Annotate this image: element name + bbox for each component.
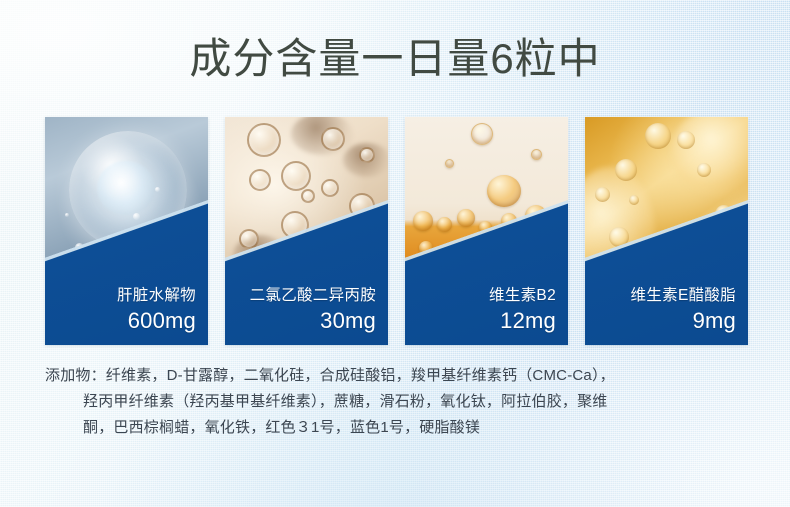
ingredient-name: 维生素E醋酸脂 — [631, 284, 736, 307]
ingredient-name: 二氯乙酸二异丙胺 — [250, 284, 376, 307]
additives-line-3: 酮，巴西棕榈蜡，氧化铁，红色３1号，蓝色1号，硬脂酸镁 — [45, 415, 751, 441]
ingredient-card-vitamin-e-acetate[interactable]: 维生素E醋酸脂 9mg — [585, 117, 748, 345]
product-ingredient-infographic: 成分含量一日量6粒中 肝脏水解物 600mg — [0, 0, 790, 507]
ingredient-name: 维生素B2 — [489, 284, 556, 307]
ingredient-card-liver-hydrolysate[interactable]: 肝脏水解物 600mg — [45, 117, 208, 345]
ingredient-amount: 600mg — [117, 307, 196, 335]
additives-paragraph: 添加物：纤维素，D-甘露醇，二氧化硅，合成硅酸铝，羧甲基纤维素钙（CMC-Ca）… — [45, 363, 751, 441]
ingredient-amount: 9mg — [631, 307, 736, 335]
card-caption: 维生素B2 12mg — [489, 284, 556, 335]
ingredient-card-vitamin-b2[interactable]: 维生素B2 12mg — [405, 117, 568, 345]
additives-line-1: 添加物：纤维素，D-甘露醇，二氧化硅，合成硅酸铝，羧甲基纤维素钙（CMC-Ca）… — [45, 363, 751, 389]
ingredient-card-row: 肝脏水解物 600mg — [45, 117, 750, 345]
page-title: 成分含量一日量6粒中 — [0, 33, 790, 85]
card-caption: 维生素E醋酸脂 9mg — [631, 284, 736, 335]
ingredient-name: 肝脏水解物 — [117, 284, 196, 307]
ingredient-card-dcai[interactable]: 二氯乙酸二异丙胺 30mg — [225, 117, 388, 345]
additives-line-2: 羟丙甲纤维素（羟丙基甲基纤维素），蔗糖，滑石粉，氧化钛，阿拉伯胶，聚维 — [45, 389, 751, 415]
ingredient-amount: 12mg — [489, 307, 556, 335]
card-caption: 肝脏水解物 600mg — [117, 284, 196, 335]
card-caption: 二氯乙酸二异丙胺 30mg — [250, 284, 376, 335]
ingredient-amount: 30mg — [250, 307, 376, 335]
